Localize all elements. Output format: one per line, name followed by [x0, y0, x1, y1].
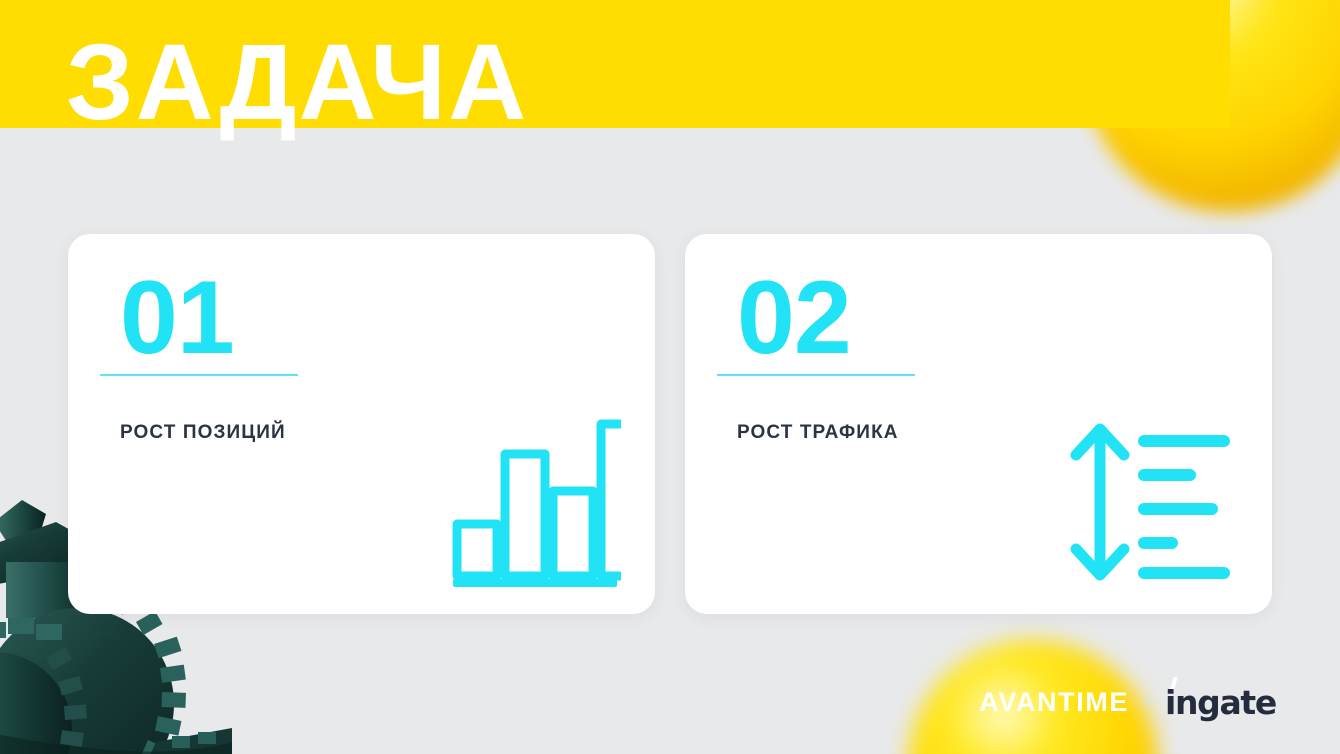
card-02[interactable]: 02 РОСТ ТРАФИКА	[685, 234, 1272, 614]
card-01[interactable]: 01 РОСТ ПОЗИЦИЙ	[68, 234, 655, 614]
card-label: РОСТ ПОЗИЦИЙ	[120, 422, 286, 444]
slide: ЗАДАЧА	[0, 0, 1340, 754]
footer-logo: AVANTIME × ingate	[979, 683, 1276, 722]
brand-ingate-text: ingate	[1165, 683, 1276, 722]
brand-avantime: AVANTIME	[979, 687, 1129, 718]
header-band-extension	[1110, 0, 1230, 128]
bar-chart-icon	[445, 407, 621, 592]
card-number: 01	[120, 266, 234, 370]
card-number: 02	[737, 266, 851, 370]
traffic-growth-icon	[1066, 417, 1238, 592]
card-underline	[100, 374, 298, 376]
card-underline	[717, 374, 915, 376]
brand-separator-icon: ×	[1142, 693, 1152, 713]
card-label: РОСТ ТРАФИКА	[737, 422, 899, 444]
brand-ingate: ingate	[1165, 683, 1276, 722]
page-title: ЗАДАЧА	[66, 28, 528, 136]
cards-row: 01 РОСТ ПОЗИЦИЙ 02 РОСТ ТРАФИКА	[68, 234, 1272, 614]
